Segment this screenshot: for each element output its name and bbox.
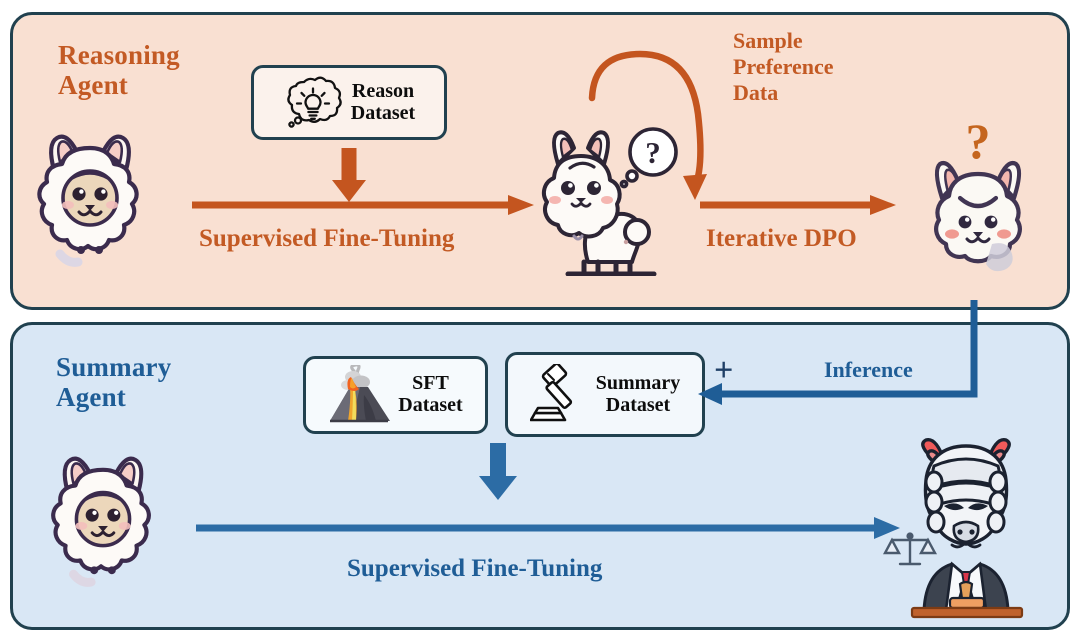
sft-arrow-label-top: Supervised Fine-Tuning xyxy=(199,224,454,254)
reasoning-title-line2: Agent xyxy=(58,70,180,100)
diagram-canvas: Reasoning Agent xyxy=(0,0,1080,642)
reason-dataset-box[interactable]: Reason Dataset xyxy=(251,65,447,140)
sft-dataset-label: SFT Dataset xyxy=(398,373,462,416)
sft-dataset-box[interactable]: SFT Dataset xyxy=(303,356,488,434)
summary-dataset-label: Summary Dataset xyxy=(596,373,680,416)
sample-pref-line3: Data xyxy=(733,80,834,106)
summary-dataset-line2: Dataset xyxy=(596,395,680,417)
reason-dataset-line1: Reason xyxy=(351,81,415,103)
gavel-icon xyxy=(530,364,588,426)
llama-thinking-icon: ? xyxy=(538,124,688,276)
volcano-icon xyxy=(328,365,390,425)
reasoning-agent-title: Reasoning Agent xyxy=(58,40,180,100)
scales-of-justice-icon xyxy=(885,534,935,564)
thought-bubble-lightbulb-icon xyxy=(283,74,343,132)
summary-title-line2: Agent xyxy=(56,382,171,412)
llama-question-icon: ? xyxy=(918,112,1038,277)
summary-dataset-box[interactable]: Summary Dataset xyxy=(505,352,705,437)
summary-agent-title: Summary Agent xyxy=(56,352,171,412)
llama-judge-icon xyxy=(872,432,1052,622)
sft-dataset-line2: Dataset xyxy=(398,395,462,417)
llama-face-icon xyxy=(26,128,154,278)
sample-preference-label: Sample Preference Data xyxy=(733,28,834,106)
reason-dataset-label: Reason Dataset xyxy=(351,81,415,124)
svg-text:?: ? xyxy=(645,135,661,170)
summary-dataset-line1: Summary xyxy=(596,373,680,395)
sample-pref-line2: Preference xyxy=(733,54,834,80)
sft-arrow-label-bottom: Supervised Fine-Tuning xyxy=(347,554,602,584)
llama-face-icon xyxy=(40,450,166,598)
dpo-arrow-label: Iterative DPO xyxy=(706,224,857,254)
reasoning-title-line1: Reasoning xyxy=(58,40,180,70)
summary-title-line1: Summary xyxy=(56,352,171,382)
sample-pref-line1: Sample xyxy=(733,28,834,54)
question-mark-glyph: ? xyxy=(966,113,991,169)
plus-sign: + xyxy=(714,352,733,390)
reason-dataset-line2: Dataset xyxy=(351,103,415,125)
inference-arrow-label: Inference xyxy=(824,357,913,383)
sft-dataset-line1: SFT xyxy=(398,373,462,395)
